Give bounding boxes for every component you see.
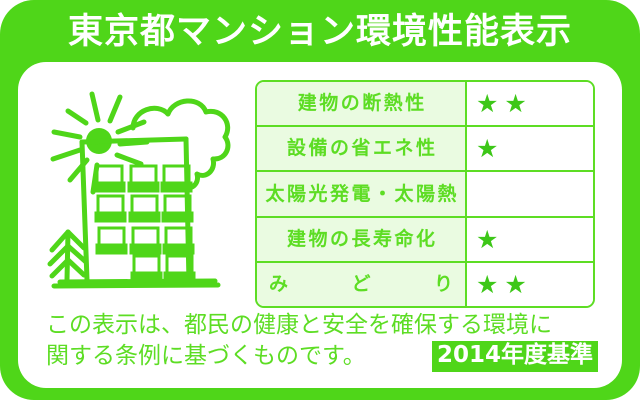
footer-note: この表示は、都民の健康と安全を確保する環境に 関する条例に基づくものです。 20… xyxy=(46,310,598,376)
row-stars-cell xyxy=(467,172,593,215)
row-label-cell: 建物の長寿命化 xyxy=(257,218,467,261)
star-icon: ★ xyxy=(504,272,526,297)
environmental-performance-label-card: 東京都マンション環境性能表示 xyxy=(0,0,640,400)
star-icon: ★ xyxy=(476,227,498,252)
star-icon: ★ xyxy=(504,91,526,116)
footer-line-2: 関する条例に基づくものです。 xyxy=(46,341,366,372)
footer-line-2-row: 関する条例に基づくものです。 2014年度基準 xyxy=(46,341,598,372)
year-standard-badge: 2014年度基準 xyxy=(432,341,598,372)
ground-line xyxy=(54,285,218,286)
table-row: 設備の省エネ性 ★ xyxy=(257,127,593,172)
table-row: 建物の長寿命化 ★ xyxy=(257,218,593,263)
row-label-cell: 太陽光発電・太陽熱 xyxy=(257,172,467,215)
row-label-cell: みどり xyxy=(257,263,467,306)
table-row: みどり ★ ★ xyxy=(257,263,593,306)
row-stars-cell: ★ ★ xyxy=(467,263,593,306)
performance-rating-table: 建物の断熱性 ★ ★ 設備の省エネ性 ★ 太陽光発電・太陽熱 xyxy=(255,80,595,308)
row-label: 建物の断熱性 xyxy=(295,94,427,113)
row-label: 太陽光発電・太陽熱 xyxy=(263,185,459,204)
row-stars-cell: ★ ★ xyxy=(467,82,593,125)
table-row: 太陽光発電・太陽熱 xyxy=(257,172,593,217)
footer-line-1: この表示は、都民の健康と安全を確保する環境に xyxy=(46,310,598,341)
row-stars-cell: ★ xyxy=(467,127,593,170)
tree-icon xyxy=(50,232,86,280)
page-title: 東京都マンション環境性能表示 xyxy=(68,15,572,50)
building-windows xyxy=(95,166,194,281)
star-icon: ★ xyxy=(476,272,498,297)
row-label-cell: 設備の省エネ性 xyxy=(257,127,467,170)
star-icon: ★ xyxy=(476,91,498,116)
row-stars-cell: ★ xyxy=(467,218,593,261)
row-label: みどり xyxy=(263,275,459,294)
row-label: 設備の省エネ性 xyxy=(284,139,437,158)
title-bar: 東京都マンション環境性能表示 xyxy=(0,0,640,62)
row-label-cell: 建物の断熱性 xyxy=(257,82,467,125)
eco-apartment-building-illustration xyxy=(40,80,255,305)
row-label: 建物の長寿命化 xyxy=(284,230,437,249)
inner-panel: 建物の断熱性 ★ ★ 設備の省エネ性 ★ 太陽光発電・太陽熱 xyxy=(18,62,622,388)
star-icon: ★ xyxy=(476,136,498,161)
table-row: 建物の断熱性 ★ ★ xyxy=(257,82,593,127)
